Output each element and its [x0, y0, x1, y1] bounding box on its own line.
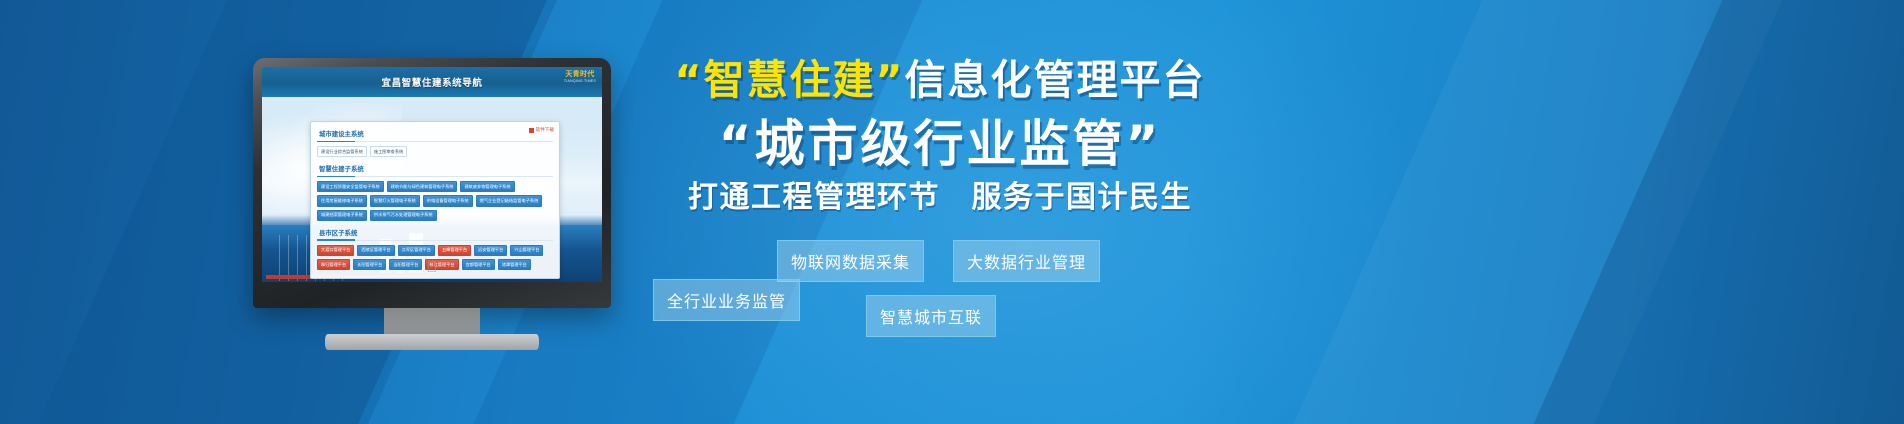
- feature-tag-iot-data-collection[interactable]: 物联网数据采集: [777, 240, 924, 282]
- panel-system-link[interactable]: 建设工程质量安全监管电子系统: [317, 181, 384, 192]
- panel-section-title: 智慧住建子系统: [317, 162, 553, 177]
- panel-system-link[interactable]: 燃气企业登记级结监管电子系统: [476, 195, 543, 206]
- panel-system-link[interactable]: 施工图审查系统: [370, 146, 407, 157]
- site-body: 软件下载 城市建设主系统建设行业综合监管系统施工图审查系统智慧住建子系统建设工程…: [262, 97, 602, 282]
- panel-system-link[interactable]: 供电设备管理电子系统: [423, 195, 473, 206]
- feature-tag-smart-city-interconnect[interactable]: 智慧城市互联: [866, 295, 996, 337]
- feature-tag-all-industry-supervision[interactable]: 全行业业务监管: [653, 279, 800, 321]
- apple-logo-icon: : [425, 260, 439, 276]
- panel-system-link[interactable]: 城建档案管理电子系统: [317, 210, 367, 221]
- monitor-mockup: 宜昌智慧住建系统导航 天青时代 TIANQING TIMES: [253, 58, 611, 308]
- panel-system-link[interactable]: 建筑废弃物管理电子系统: [460, 181, 514, 192]
- panel-section-title: 城市建设主系统: [317, 127, 553, 142]
- headline-primary-rest: 信息化管理平台: [904, 56, 1205, 104]
- panel-system-link[interactable]: 兴山管理平台: [510, 245, 543, 256]
- headline-primary-highlight: “智慧住建”: [675, 56, 905, 104]
- panel-system-link[interactable]: 远安管理平台: [474, 245, 507, 256]
- site-logo-secondary: TIANQING TIMES: [564, 80, 596, 84]
- headline-secondary: “城市级行业监管”: [660, 104, 1220, 176]
- panel-system-link[interactable]: 建设行业综合监管系统: [317, 146, 367, 157]
- panel-system-link[interactable]: 长阳管理平台: [353, 259, 386, 270]
- headline-primary: “智慧住建”信息化管理平台: [660, 46, 1220, 106]
- navigation-panel: 软件下载 城市建设主系统建设行业综合监管系统施工图审查系统智慧住建子系统建设工程…: [310, 121, 560, 279]
- panel-system-link[interactable]: 当阳管理平台: [389, 259, 422, 270]
- panel-section-title: 县市区子系统: [317, 226, 553, 241]
- promo-banner: 宜昌智慧住建系统导航 天青时代 TIANQING TIMES: [0, 0, 1904, 424]
- panel-system-link[interactable]: 西陵区管理平台: [357, 245, 394, 256]
- site-header: 宜昌智慧住建系统导航 天青时代 TIANQING TIMES: [262, 67, 602, 97]
- panel-system-link[interactable]: 供水排气污水处理管理电子系统: [370, 210, 437, 221]
- hero-text-block: “智慧住建”信息化管理平台 “城市级行业监管” 打通工程管理环节 服务于国计民生…: [640, 0, 1904, 424]
- panel-system-link[interactable]: 大渡口管理平台: [317, 245, 354, 256]
- panel-system-link[interactable]: 点军区管理平台: [398, 245, 435, 256]
- panel-system-link[interactable]: 建筑节能与绿色建筑管理电子系统: [387, 181, 458, 192]
- monitor-bezel: 宜昌智慧住建系统导航 天青时代 TIANQING TIMES: [253, 58, 611, 308]
- feature-tag-bigdata-industry-management[interactable]: 大数据行业管理: [953, 240, 1100, 282]
- panel-system-link[interactable]: 秭归管理平台: [317, 259, 350, 270]
- headline-subtitle: 打通工程管理环节 服务于国计民生: [660, 172, 1220, 216]
- monitor-stand-foot: [325, 334, 539, 350]
- panel-system-link[interactable]: 智慧灯火管理电子系统: [370, 195, 420, 206]
- monitor-stand-neck: [384, 308, 480, 336]
- panel-system-link[interactable]: 宜都管理平台: [462, 259, 495, 270]
- panel-sections: 城市建设主系统建设行业综合监管系统施工图审查系统智慧住建子系统建设工程质量安全监…: [317, 127, 553, 270]
- panel-section-items: 建设行业综合监管系统施工图审查系统: [317, 146, 553, 157]
- panel-system-link[interactable]: 住用房屋维修电子系统: [317, 195, 367, 206]
- site-logo: 天青时代 TIANQING TIMES: [564, 71, 596, 84]
- panel-system-link[interactable]: 五峰管理平台: [438, 245, 471, 256]
- panel-system-link[interactable]: 渚潭管理平台: [498, 259, 531, 270]
- monitor-screen: 宜昌智慧住建系统导航 天青时代 TIANQING TIMES: [262, 67, 602, 282]
- site-header-title: 宜昌智慧住建系统导航: [381, 75, 482, 89]
- panel-section-items: 建设工程质量安全监管电子系统建筑节能与绿色建筑管理电子系统建筑废弃物管理电子系统…: [317, 181, 553, 221]
- site-logo-primary: 天青时代: [564, 71, 596, 78]
